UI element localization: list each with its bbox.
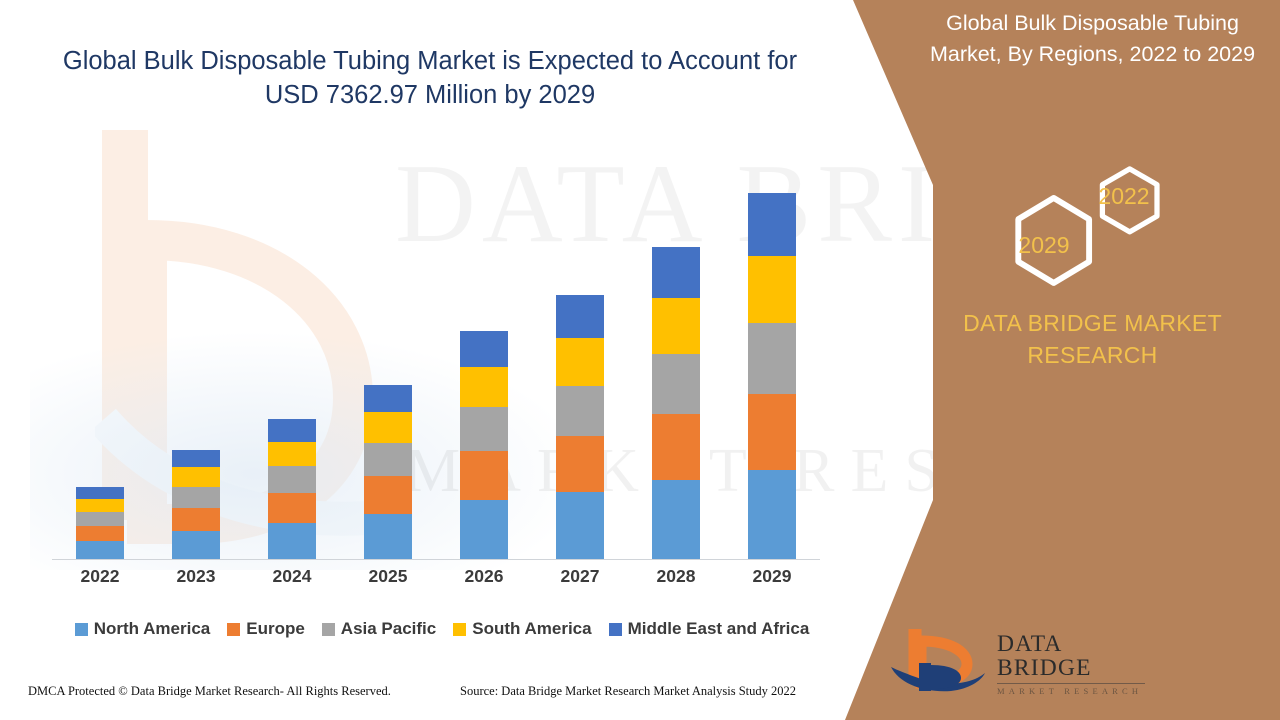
bar-2027 (556, 295, 604, 559)
bar-segment-2022-middle-east-and-africa (76, 487, 124, 499)
chart-legend: North AmericaEuropeAsia PacificSouth Ame… (52, 616, 832, 642)
bar-2022 (76, 487, 124, 559)
bar-2024 (268, 419, 316, 559)
legend-label: South America (472, 619, 591, 639)
bar-segment-2024-europe (268, 493, 316, 523)
x-tick-2023: 2023 (166, 566, 226, 587)
bar-segment-2025-north-america (364, 514, 412, 559)
logo-divider (997, 683, 1145, 684)
bar-segment-2029-middle-east-and-africa (748, 193, 796, 256)
bar-segment-2023-europe (172, 508, 220, 532)
bar-segment-2025-middle-east-and-africa (364, 385, 412, 413)
bar-segment-2024-north-america (268, 523, 316, 559)
hexagon-badges: 2029 2022 (995, 158, 1195, 288)
bar-segment-2029-europe (748, 394, 796, 471)
bar-segment-2027-south-america (556, 338, 604, 385)
legend-label: Middle East and Africa (628, 619, 810, 639)
bar-segment-2026-asia-pacific (460, 407, 508, 450)
x-axis-tick-labels: 20222023202420252026202720282029 (52, 566, 820, 592)
x-tick-2024: 2024 (262, 566, 322, 587)
bar-segment-2027-europe (556, 436, 604, 492)
bar-2026 (460, 331, 508, 559)
legend-item-asia-pacific[interactable]: Asia Pacific (322, 619, 436, 639)
bar-segment-2023-middle-east-and-africa (172, 450, 220, 468)
bar-segment-2025-asia-pacific (364, 443, 412, 476)
bar-segment-2023-south-america (172, 467, 220, 487)
left-chart-panel: DATA BRIDGE MARKET RESEARCH Global Bulk … (0, 0, 900, 720)
bar-segment-2025-europe (364, 476, 412, 513)
bar-segment-2023-asia-pacific (172, 487, 220, 508)
bar-segment-2027-north-america (556, 492, 604, 559)
legend-label: Europe (246, 619, 305, 639)
bar-segment-2028-north-america (652, 480, 700, 559)
x-tick-2028: 2028 (646, 566, 706, 587)
x-axis-line (52, 559, 820, 560)
bar-segment-2025-south-america (364, 412, 412, 443)
bar-segment-2026-south-america (460, 367, 508, 407)
bar-segment-2026-europe (460, 451, 508, 500)
bar-segment-2029-south-america (748, 256, 796, 323)
x-tick-2027: 2027 (550, 566, 610, 587)
stacked-bar-chart (52, 160, 820, 560)
hexagon-outlines-icon (995, 158, 1195, 288)
legend-label: North America (94, 619, 211, 639)
right-panel-brand-name: DATA BRIDGE MARKET RESEARCH (920, 308, 1265, 371)
logo-name: DATA BRIDGE (997, 633, 1147, 680)
bar-segment-2028-europe (652, 414, 700, 480)
hex-label-2022: 2022 (1079, 183, 1169, 210)
bar-segment-2024-asia-pacific (268, 466, 316, 493)
legend-item-middle-east-and-africa[interactable]: Middle East and Africa (609, 619, 810, 639)
logo-tagline: MARKET RESEARCH (997, 686, 1147, 696)
x-tick-2026: 2026 (454, 566, 514, 587)
bar-segment-2029-asia-pacific (748, 323, 796, 394)
legend-item-europe[interactable]: Europe (227, 619, 305, 639)
bar-2028 (652, 247, 700, 559)
x-tick-2029: 2029 (742, 566, 802, 587)
bar-segment-2027-middle-east-and-africa (556, 295, 604, 338)
brand-line-1: DATA BRIDGE MARKET (920, 308, 1265, 340)
legend-swatch-icon (322, 623, 335, 636)
legend-swatch-icon (227, 623, 240, 636)
legend-swatch-icon (75, 623, 88, 636)
legend-swatch-icon (609, 623, 622, 636)
page-title: Global Bulk Disposable Tubing Market is … (60, 44, 800, 112)
legend-swatch-icon (453, 623, 466, 636)
footer-copyright: DMCA Protected © Data Bridge Market Rese… (28, 684, 391, 699)
bar-segment-2022-asia-pacific (76, 512, 124, 526)
data-bridge-logo: DATA BRIDGE MARKET RESEARCH (885, 625, 1135, 697)
legend-label: Asia Pacific (341, 619, 436, 639)
legend-item-north-america[interactable]: North America (75, 619, 211, 639)
right-panel-heading: Global Bulk Disposable Tubing Market, By… (910, 8, 1275, 69)
infographic-canvas: DATA BRIDGE MARKET RESEARCH Global Bulk … (0, 0, 1280, 720)
data-bridge-mark-icon (885, 625, 995, 697)
logo-wordmark: DATA BRIDGE MARKET RESEARCH (997, 633, 1147, 696)
bar-segment-2024-middle-east-and-africa (268, 419, 316, 442)
x-tick-2022: 2022 (70, 566, 130, 587)
bar-segment-2028-middle-east-and-africa (652, 247, 700, 298)
bar-segment-2027-asia-pacific (556, 386, 604, 436)
hex-label-2029: 2029 (999, 232, 1089, 259)
bar-segment-2024-south-america (268, 442, 316, 467)
bar-2029 (748, 193, 796, 559)
bar-segment-2028-south-america (652, 298, 700, 354)
bar-2023 (172, 450, 220, 559)
bar-segment-2029-north-america (748, 470, 796, 559)
right-brand-panel: Global Bulk Disposable Tubing Market, By… (900, 0, 1280, 720)
bar-segment-2026-north-america (460, 500, 508, 559)
brand-line-2: RESEARCH (920, 340, 1265, 372)
bar-2025 (364, 385, 412, 559)
chart-plot-area (52, 160, 820, 560)
bar-segment-2022-europe (76, 526, 124, 542)
legend-item-south-america[interactable]: South America (453, 619, 591, 639)
footer-source: Source: Data Bridge Market Research Mark… (460, 684, 796, 699)
bar-segment-2022-south-america (76, 499, 124, 512)
bar-segment-2028-asia-pacific (652, 354, 700, 414)
bar-segment-2022-north-america (76, 541, 124, 559)
bar-segment-2026-middle-east-and-africa (460, 331, 508, 367)
bar-segment-2023-north-america (172, 531, 220, 559)
x-tick-2025: 2025 (358, 566, 418, 587)
